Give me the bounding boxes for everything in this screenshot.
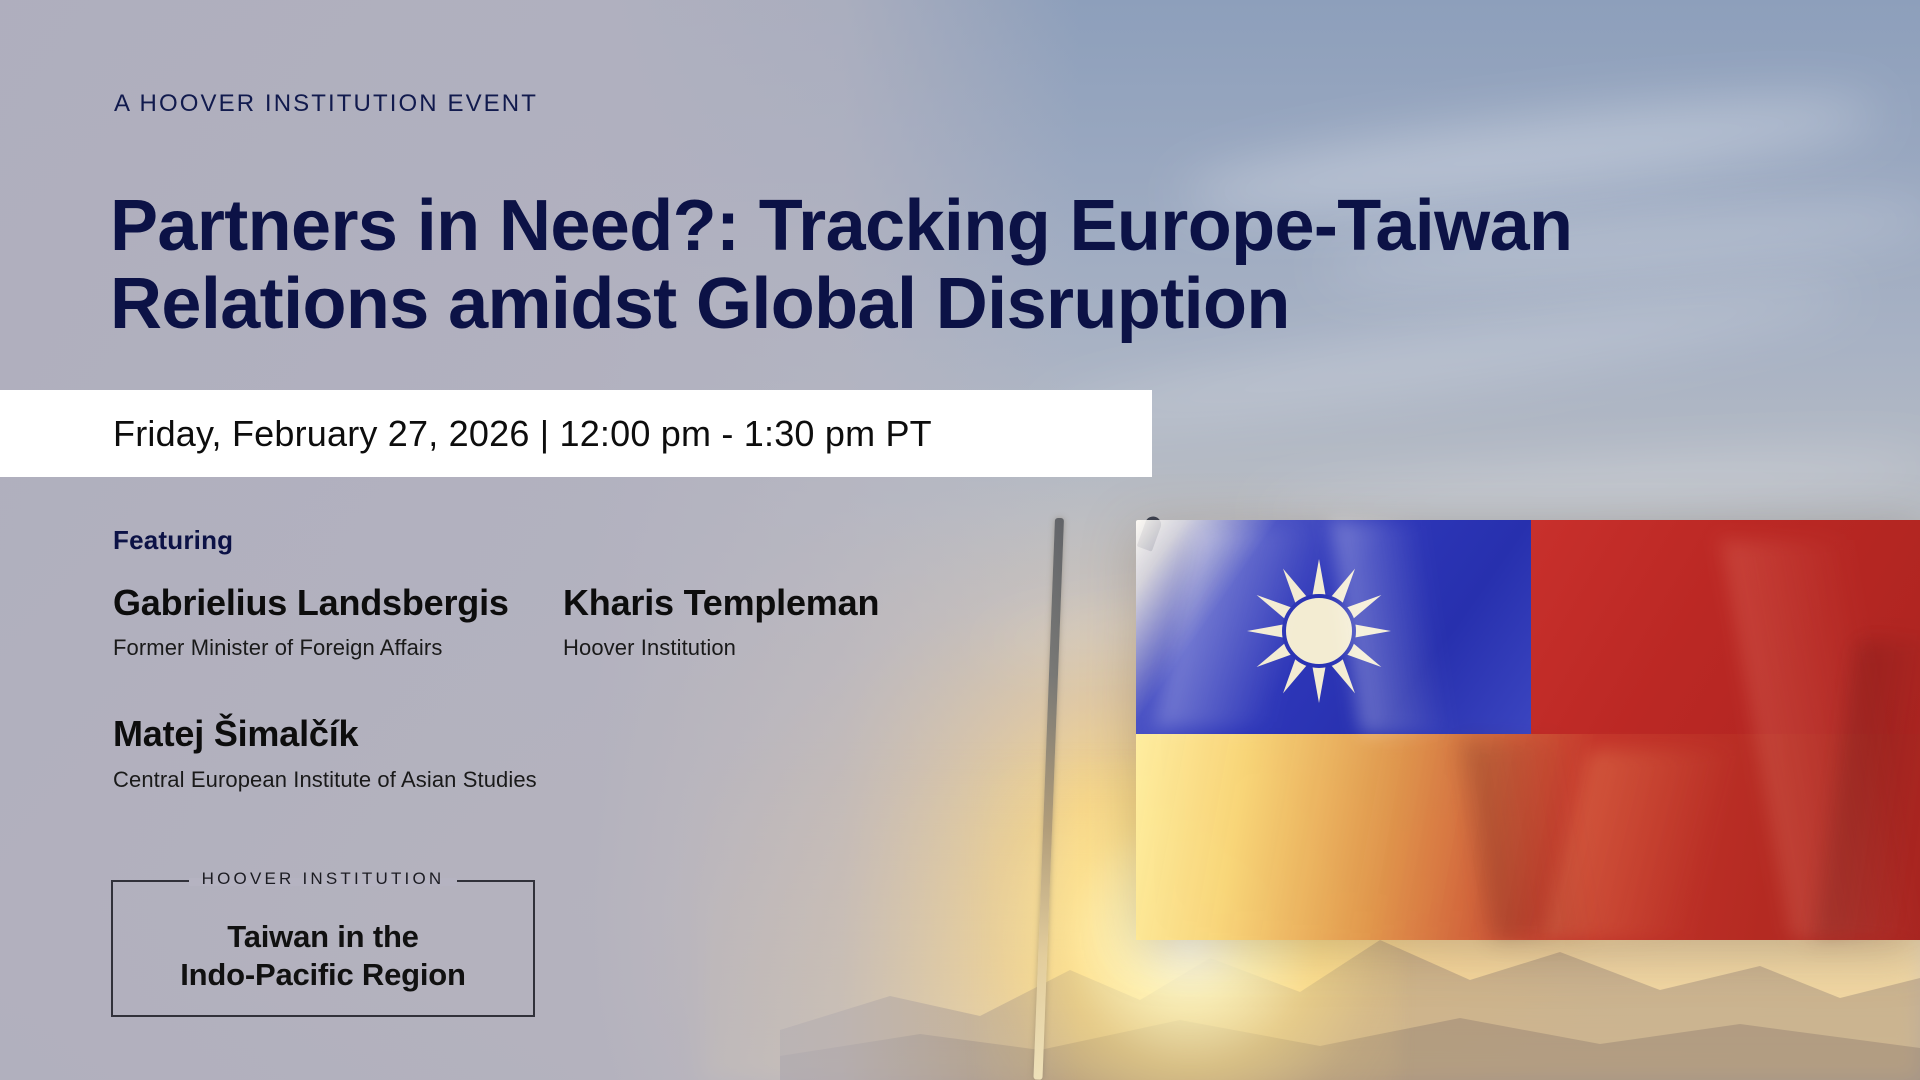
speaker-list: Gabrielius Landsbergis Former Minister o… <box>113 582 1013 793</box>
speaker-affiliation: Hoover Institution <box>563 635 1013 661</box>
speaker-name: Kharis Templeman <box>563 582 1013 623</box>
speaker-name: Matej Šimalčík <box>113 713 563 754</box>
speaker-row: Gabrielius Landsbergis Former Minister o… <box>113 582 1013 661</box>
speaker-row: Matej Šimalčík Central European Institut… <box>113 713 1013 792</box>
speaker-card: Gabrielius Landsbergis Former Minister o… <box>113 582 563 661</box>
speaker-card-empty <box>563 713 1013 792</box>
page-title: Partners in Need?: Tracking Europe-Taiwa… <box>110 188 1490 344</box>
speaker-affiliation: Former Minister of Foreign Affairs <box>113 635 563 661</box>
speaker-name: Gabrielius Landsbergis <box>113 582 563 623</box>
featuring-label: Featuring <box>113 525 233 556</box>
event-date-time: Friday, February 27, 2026 | 12:00 pm - 1… <box>113 413 932 455</box>
date-time-bar: Friday, February 27, 2026 | 12:00 pm - 1… <box>0 390 1152 477</box>
logo-organization: HOOVER INSTITUTION <box>188 869 459 889</box>
speaker-affiliation: Central European Institute of Asian Stud… <box>113 767 563 793</box>
title-line-1: Partners in Need?: Tracking Europe-Taiwa… <box>110 188 1490 266</box>
logo-program-line-1: Taiwan in the <box>113 918 533 956</box>
title-line-2: Relations amidst Global Disruption <box>110 266 1490 344</box>
event-eyebrow: A HOOVER INSTITUTION EVENT <box>114 90 538 118</box>
program-logo-lockup: HOOVER INSTITUTION Taiwan in the Indo-Pa… <box>111 880 535 1017</box>
logo-program-name: Taiwan in the Indo-Pacific Region <box>113 918 533 995</box>
content-layer: A HOOVER INSTITUTION EVENT Partners in N… <box>0 0 1920 1080</box>
logo-program-line-2: Indo-Pacific Region <box>113 956 533 994</box>
speaker-card: Kharis Templeman Hoover Institution <box>563 582 1013 661</box>
event-banner: A HOOVER INSTITUTION EVENT Partners in N… <box>0 0 1920 1080</box>
speaker-card: Matej Šimalčík Central European Institut… <box>113 713 563 792</box>
